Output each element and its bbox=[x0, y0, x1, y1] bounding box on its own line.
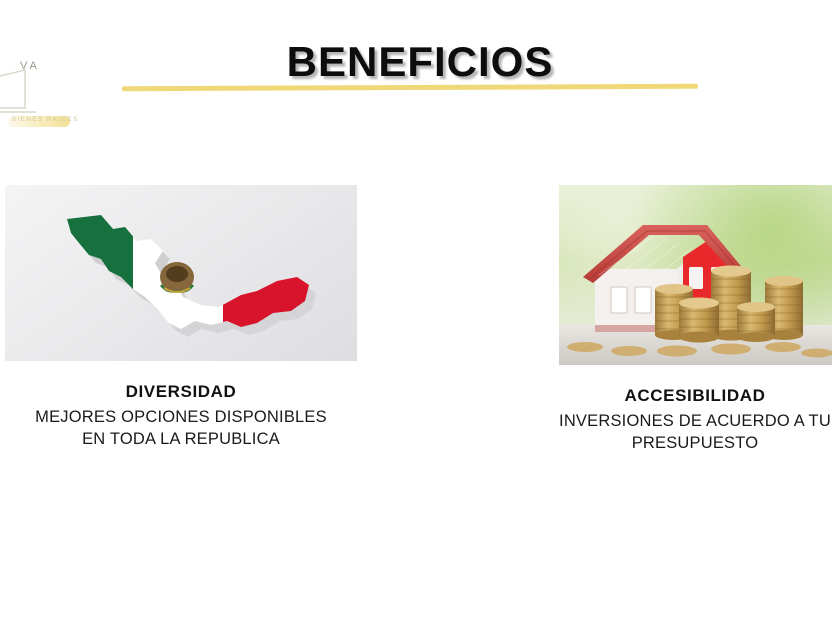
benefit-column-diversidad: DIVERSIDAD MEJORES OPCIONES DISPONIBLES … bbox=[0, 185, 396, 450]
benefit-caption-accesibilidad: ACCESIBILIDAD INVERSIONES DE ACUERDO A T… bbox=[480, 386, 840, 454]
benefit-heading: ACCESIBILIDAD bbox=[480, 386, 840, 406]
title-underline-rule bbox=[122, 84, 698, 92]
benefit-caption-diversidad: DIVERSIDAD MEJORES OPCIONES DISPONIBLES … bbox=[0, 382, 396, 450]
slide-canvas: VA BIENES RAICES BENEFICIOS bbox=[0, 0, 840, 630]
slide-title: BENEFICIOS bbox=[0, 40, 840, 84]
benefit-body: MEJORES OPCIONES DISPONIBLES EN TODA LA … bbox=[0, 406, 396, 450]
logo-subtext: BIENES RAICES bbox=[12, 117, 79, 123]
benefit-heading: DIVERSIDAD bbox=[0, 382, 396, 402]
mexico-map-flag-image bbox=[5, 185, 357, 361]
benefit-body: INVERSIONES DE ACUERDO A TU PRESUPUESTO bbox=[480, 410, 840, 454]
benefit-column-accesibilidad: ACCESIBILIDAD INVERSIONES DE ACUERDO A T… bbox=[480, 185, 840, 454]
house-model-coin-stacks-image bbox=[559, 185, 832, 365]
